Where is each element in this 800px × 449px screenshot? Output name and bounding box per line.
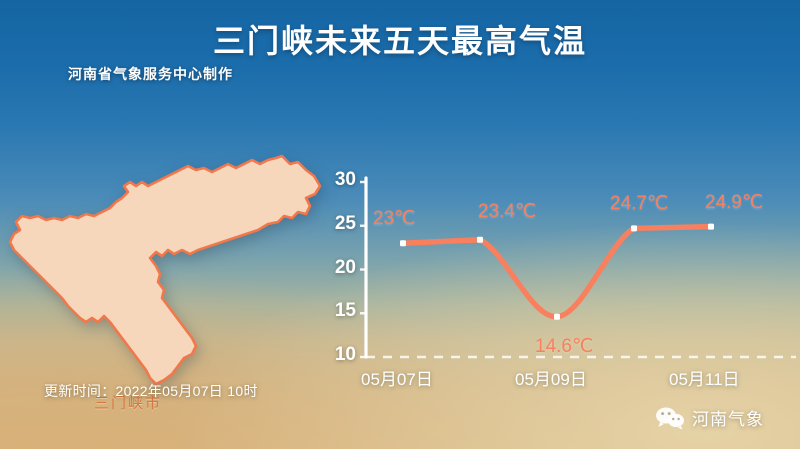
data-point-label: 24.9℃ bbox=[705, 191, 763, 214]
x-axis-tick-label: 05月11日 bbox=[669, 365, 740, 390]
y-axis-tick-label: 30 bbox=[322, 169, 356, 191]
weather-infographic: 三门峡未来五天最高气温 河南省气象服务中心制作 三门峡市 更新时间：2022年0… bbox=[0, 0, 800, 449]
x-axis-tick-label: 05月09日 bbox=[515, 365, 587, 390]
data-point-label: 23℃ bbox=[373, 207, 415, 230]
wechat-icon bbox=[655, 406, 685, 430]
region-map: 三门峡市 bbox=[6, 150, 326, 390]
data-point-label: 14.6℃ bbox=[535, 335, 593, 358]
temperature-line-chart: 101520253023℃23.4℃14.6℃24.7℃24.9℃05月07日0… bbox=[330, 160, 800, 395]
sanmenxia-boundary-shape bbox=[10, 156, 320, 384]
subtitle-credit: 河南省气象服务中心制作 bbox=[68, 64, 233, 84]
x-axis-tick-label: 05月07日 bbox=[361, 365, 433, 390]
page-title: 三门峡未来五天最高气温 bbox=[0, 16, 800, 62]
data-point-label: 23.4℃ bbox=[478, 200, 536, 223]
watermark-label: 河南气象 bbox=[692, 405, 764, 430]
watermark: 河南气象 bbox=[655, 405, 764, 430]
y-axis-tick-label: 10 bbox=[322, 344, 356, 366]
update-time-text: 更新时间：2022年05月07日 10时 bbox=[44, 381, 258, 401]
y-axis-tick-label: 15 bbox=[322, 300, 356, 322]
y-axis-tick-label: 20 bbox=[322, 257, 356, 279]
y-axis-tick-label: 25 bbox=[322, 213, 356, 235]
data-point-label: 24.7℃ bbox=[610, 192, 668, 215]
